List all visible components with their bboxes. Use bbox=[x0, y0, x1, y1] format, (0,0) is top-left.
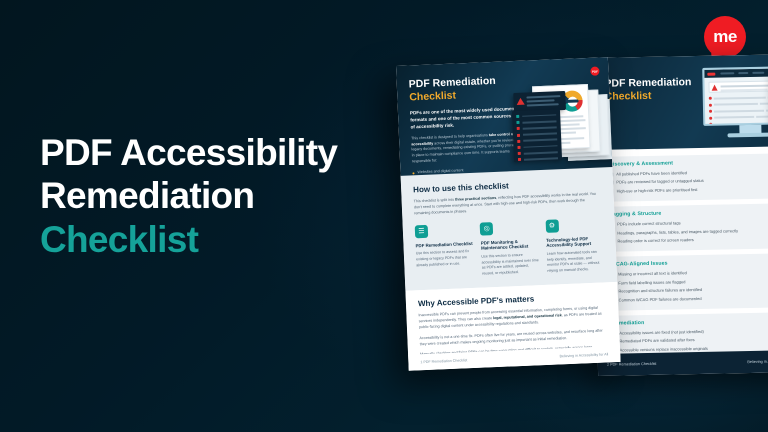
checklist-page-1[interactable]: PDF PDF Remediation Checklist PDFs are o… bbox=[396, 57, 621, 371]
why-paragraph-1: Inaccessible PDFs can prevent people fro… bbox=[418, 306, 607, 332]
status-dot-icon bbox=[516, 121, 519, 124]
clipboard-icon: ☰ bbox=[415, 225, 429, 239]
page2-footer: 2 PDF Remediation Checklist Believing in… bbox=[598, 350, 768, 376]
panel-row bbox=[516, 120, 556, 125]
monitor-logo-dot bbox=[707, 72, 715, 75]
issue-line bbox=[764, 122, 768, 124]
issue-line bbox=[714, 103, 758, 106]
checklist-item[interactable]: Accessibility issues are fixed (not just… bbox=[612, 327, 768, 335]
panel-row bbox=[518, 150, 558, 155]
warning-triangle-icon bbox=[516, 98, 524, 105]
checklist-item[interactable]: Reading order is correct for screen read… bbox=[610, 235, 768, 243]
column-body: Use this section to ensure accessibility… bbox=[481, 252, 539, 277]
panel-line bbox=[523, 151, 558, 154]
checklist-item[interactable]: Headings, paragraphs, lists, tables, and… bbox=[610, 227, 768, 235]
checklist-item-label: PDFs include correct structural tags bbox=[617, 218, 768, 226]
column-title: PDF Monitoring & Maintenance Checklist bbox=[481, 238, 539, 252]
monitor-stand-base bbox=[727, 133, 768, 138]
page2-header: PDF Remediation Checklist bbox=[592, 54, 768, 150]
page1-title-line1: PDF Remediation bbox=[409, 75, 496, 91]
issue-line bbox=[714, 96, 766, 99]
checklist-item[interactable]: Missing or incorrect alt text is identif… bbox=[611, 269, 768, 277]
warning-text-line bbox=[526, 95, 560, 98]
magnifier-icon: ◎ bbox=[480, 222, 494, 236]
gear-icon: ⚙ bbox=[545, 219, 559, 233]
checklist-section: Discovery & Assessment All published PDF… bbox=[603, 153, 768, 202]
checklist-item-label: All published PDFs have been identified bbox=[616, 168, 768, 176]
monitor-issue-rows bbox=[705, 94, 768, 126]
sub-part-c: , reflecting how PDF accessibility works… bbox=[414, 192, 596, 215]
page1-footer-left: 1 PDF Remediation Checklist bbox=[420, 358, 467, 364]
issue-row bbox=[709, 94, 768, 101]
issue-dot-icon bbox=[709, 123, 712, 126]
section-title: WCAG-Aligned Issues bbox=[611, 259, 768, 268]
checklist-item[interactable]: PDFs include correct structural tags bbox=[610, 218, 768, 226]
status-dot-icon bbox=[517, 133, 520, 136]
section-title: Discovery & Assessment bbox=[609, 158, 768, 167]
page1-header: PDF PDF Remediation Checklist PDFs are o… bbox=[396, 57, 612, 176]
how-to-column: ◎ PDF Monitoring & Maintenance Checklist… bbox=[480, 220, 540, 277]
warning-text-line bbox=[527, 103, 559, 106]
checklist-item[interactable]: Form field labelling issues are flagged bbox=[611, 277, 768, 285]
how-to-use-subtitle: This checklist is split into three pract… bbox=[414, 192, 603, 218]
issue-row bbox=[709, 114, 768, 121]
checklist-item[interactable]: All published PDFs have been identified bbox=[609, 168, 768, 176]
sub-part-a: This checklist is split into bbox=[414, 198, 456, 204]
how-to-use-columns: ☰ PDF Remediation Checklist Use this sec… bbox=[415, 217, 605, 280]
monitor-toolbar bbox=[704, 68, 768, 78]
panel-line bbox=[523, 139, 558, 142]
slide-canvas: me PDF Accessibility Remediation Checkli… bbox=[0, 0, 768, 432]
section-title: Tagging & Structure bbox=[610, 208, 768, 217]
column-title: Technology-led PDF Accessibility Support bbox=[546, 235, 604, 249]
how-to-column: ☰ PDF Remediation Checklist Use this sec… bbox=[415, 223, 475, 280]
panel-line bbox=[523, 145, 558, 148]
checklist-item-label: Common WCAG PDF failures are documented bbox=[619, 294, 768, 302]
page2-footer-left: 2 PDF Remediation Checklist bbox=[607, 362, 657, 367]
issue-line bbox=[756, 115, 768, 117]
page1-footer-right: Believing in Accessibility for All bbox=[559, 352, 608, 358]
issue-dot-icon bbox=[709, 97, 712, 100]
status-dot-icon bbox=[518, 152, 521, 155]
page2-checklist-body: Discovery & Assessment All published PDF… bbox=[594, 146, 768, 361]
monitor-illustration bbox=[702, 66, 768, 146]
issue-line bbox=[714, 116, 754, 119]
how-to-column: ⚙ Technology-led PDF Accessibility Suppo… bbox=[545, 217, 605, 274]
checklist-item[interactable]: Common WCAG PDF failures are documented bbox=[612, 294, 768, 302]
monitor-nav-line bbox=[720, 72, 734, 74]
why1-b: legal, reputational, and operational ris… bbox=[493, 314, 562, 321]
donut-label-pill bbox=[566, 99, 579, 103]
checklist-item[interactable]: Recognition and structure failures are i… bbox=[611, 285, 768, 293]
checklist-item-label: Missing or incorrect alt text is identif… bbox=[618, 269, 768, 277]
checklist-item-label: Remediated PDFs are validated after fixe… bbox=[619, 336, 768, 344]
alert-text-line bbox=[721, 84, 768, 87]
checklist-item-label: Headings, paragraphs, lists, tables, and… bbox=[617, 227, 768, 235]
monitor-nav-line bbox=[738, 72, 748, 74]
issue-dot-icon bbox=[709, 116, 712, 119]
issue-line bbox=[760, 102, 768, 104]
status-dot-icon bbox=[517, 127, 520, 130]
issue-dot-icon bbox=[709, 103, 712, 106]
page2-title-line1: PDF Remediation bbox=[604, 76, 691, 90]
checklist-item[interactable]: PDFs are reviewed for tagged or untagged… bbox=[609, 177, 768, 185]
panel-line bbox=[522, 114, 557, 117]
panel-row bbox=[517, 144, 557, 149]
status-dot-icon bbox=[516, 115, 519, 118]
column-body: Learn how automated tools can help ident… bbox=[547, 250, 605, 275]
issue-row bbox=[709, 107, 768, 114]
panel-row bbox=[517, 132, 557, 137]
checklist-item-label: Reading order is correct for screen read… bbox=[617, 235, 768, 243]
checklist-item-label: PDFs are reviewed for tagged or untagged… bbox=[616, 177, 768, 185]
panel-row bbox=[516, 113, 556, 118]
status-dot-icon bbox=[517, 140, 520, 143]
panel-line bbox=[523, 157, 558, 160]
panel-row bbox=[517, 138, 557, 143]
checklist-item[interactable]: Remediated PDFs are validated after fixe… bbox=[612, 336, 768, 344]
status-dot-icon bbox=[517, 146, 520, 149]
how-to-use-section: How to use this checklist This checklist… bbox=[401, 167, 618, 291]
monitor-alert-banner bbox=[708, 80, 768, 93]
panel-line bbox=[522, 126, 557, 129]
page2-footer-right: Believing in Accessibility for All bbox=[747, 359, 768, 364]
panel-line bbox=[522, 132, 557, 135]
sub-part-b: three practical sections bbox=[455, 196, 496, 202]
warning-text-line bbox=[527, 99, 555, 102]
checklist-item[interactable]: High-use or high-risk PDFs are prioritis… bbox=[610, 185, 768, 193]
status-dot-icon bbox=[518, 158, 521, 161]
page1-lead: PDFs are one of the most widely used doc… bbox=[410, 106, 517, 131]
alert-text-line bbox=[721, 88, 768, 91]
panel-row bbox=[517, 126, 557, 131]
warning-triangle-icon bbox=[712, 85, 718, 91]
issue-row bbox=[709, 101, 768, 108]
document-mockups: PDF Remediation Checklist bbox=[0, 0, 768, 432]
checklist-item-label: Accessibility issues are fixed (not just… bbox=[619, 327, 768, 335]
documents-illustration bbox=[511, 77, 613, 167]
monitor-nav-line bbox=[752, 72, 764, 74]
checklist-item-label: Form field labelling issues are flagged bbox=[618, 277, 768, 285]
checklist-item-label: High-use or high-risk PDFs are prioritis… bbox=[617, 185, 768, 193]
checklist-section: WCAG-Aligned Issues Missing or incorrect… bbox=[605, 253, 768, 310]
panel-row bbox=[518, 157, 558, 162]
issues-panel bbox=[512, 109, 562, 162]
panel-line bbox=[522, 120, 557, 123]
checklist-item-label: Recognition and structure failures are i… bbox=[618, 285, 768, 293]
column-title: PDF Remediation Checklist bbox=[415, 241, 473, 249]
monitor-screen bbox=[702, 66, 768, 126]
column-body: Use this section to assess and fix exist… bbox=[416, 249, 474, 268]
page1-intro-paragraph: This checklist is designed to help organ… bbox=[411, 132, 524, 165]
issue-line bbox=[714, 109, 764, 112]
issue-dot-icon bbox=[709, 110, 712, 113]
section-title: Remediation bbox=[612, 317, 768, 326]
checklist-section: Tagging & Structure PDFs include correct… bbox=[604, 203, 768, 252]
